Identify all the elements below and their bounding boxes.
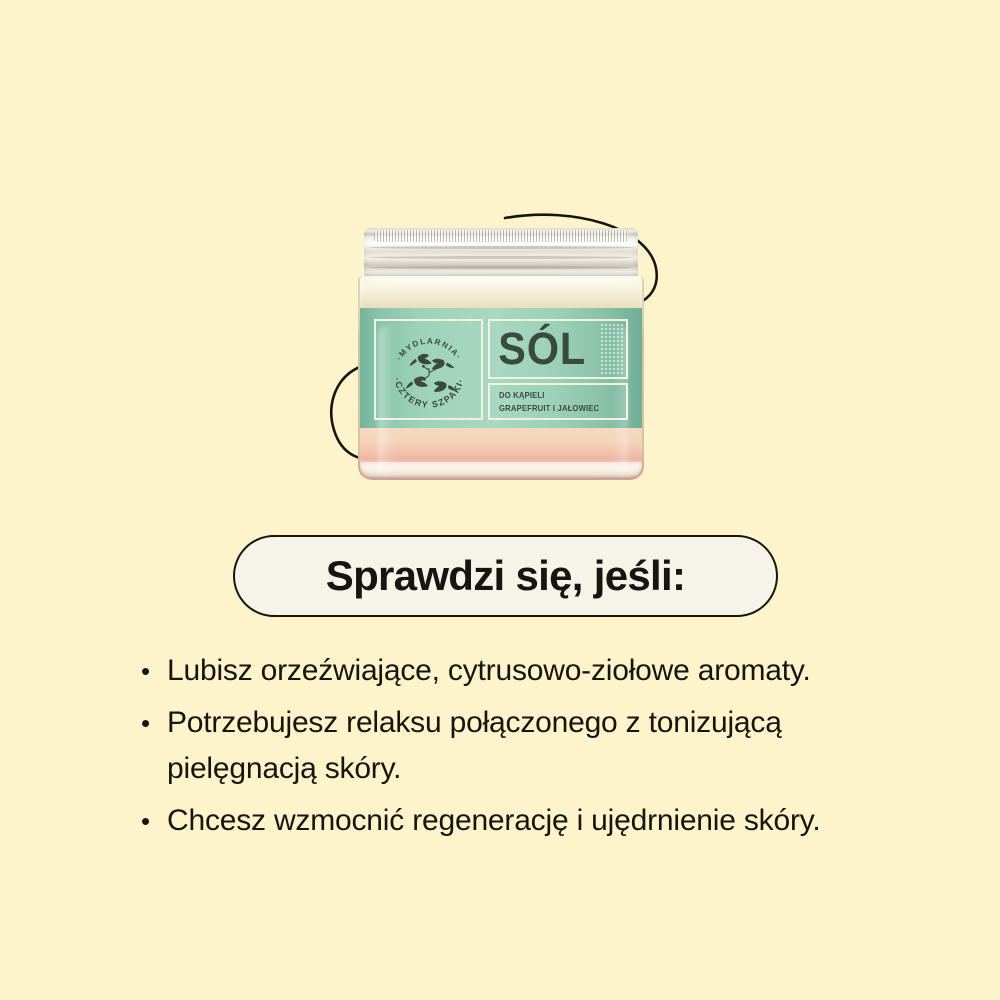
- list-item: • Lubisz orzeźwiające, cytrusowo-ziołowe…: [138, 648, 898, 694]
- list-item-text: Lubisz orzeźwiające, cytrusowo-ziołowe a…: [167, 648, 811, 694]
- bullet-marker-icon: •: [138, 798, 167, 844]
- jar-base: [360, 462, 642, 479]
- salt-surface-highlight: [364, 277, 642, 284]
- halftone-dots-pattern: [600, 323, 624, 375]
- benefits-list: • Lubisz orzeźwiające, cytrusowo-ziołowe…: [138, 648, 898, 850]
- product-subtitle-panel: DO KĄPIELI GRAPEFRUIT I JAŁOWIEC: [488, 383, 628, 420]
- product-name: SÓL: [490, 329, 586, 370]
- svg-text:·CZTERY SZPAKI·: ·CZTERY SZPAKI·: [392, 376, 466, 409]
- lid-thread-ring: [368, 256, 634, 259]
- subtitle-line-1: DO KĄPIELI: [499, 389, 613, 401]
- list-item-text: Chcesz wzmocnić regenerację i ujędrnieni…: [167, 798, 820, 844]
- salt-contents-top: [360, 276, 642, 310]
- list-item-text: Potrzebujesz relaksu połączonego z toniz…: [167, 700, 867, 792]
- poster-canvas: ·MYDLARNIA· ·CZTERY SZPAKI·: [0, 0, 1000, 1000]
- svg-text:·MYDLARNIA·: ·MYDLARNIA·: [394, 336, 463, 361]
- product-jar: ·MYDLARNIA· ·CZTERY SZPAKI·: [358, 228, 644, 480]
- product-name-panel: SÓL: [488, 319, 628, 379]
- subtitle-line-2: GRAPEFRUIT I JAŁOWIEC: [499, 402, 613, 414]
- jar-label: ·MYDLARNIA· ·CZTERY SZPAKI·: [360, 308, 642, 430]
- jar-lid: [364, 228, 638, 280]
- list-item: • Chcesz wzmocnić regenerację i ujędrnie…: [138, 798, 898, 844]
- jar-glass-body: ·MYDLARNIA· ·CZTERY SZPAKI·: [358, 276, 644, 480]
- list-item: • Potrzebujesz relaksu połączonego z ton…: [138, 700, 898, 792]
- section-heading-pill: Sprawdzi się, jeśli:: [233, 535, 778, 617]
- lid-thread-ring: [368, 266, 634, 269]
- page-title: Sprawdzi się, jeśli:: [326, 552, 685, 600]
- lid-thread-ring: [368, 246, 634, 249]
- bullet-marker-icon: •: [138, 700, 167, 746]
- cztery-szpaki-logo-icon: ·MYDLARNIA· ·CZTERY SZPAKI·: [382, 323, 476, 417]
- label-text-column: SÓL DO KĄPIELI GRAPEFRUIT I JAŁOWIEC: [488, 319, 628, 420]
- bullet-marker-icon: •: [138, 648, 167, 694]
- brand-emblem-panel: ·MYDLARNIA· ·CZTERY SZPAKI·: [374, 319, 483, 420]
- curved-accent-line-icon: [0, 0, 1000, 1000]
- lid-knurling: [374, 230, 628, 242]
